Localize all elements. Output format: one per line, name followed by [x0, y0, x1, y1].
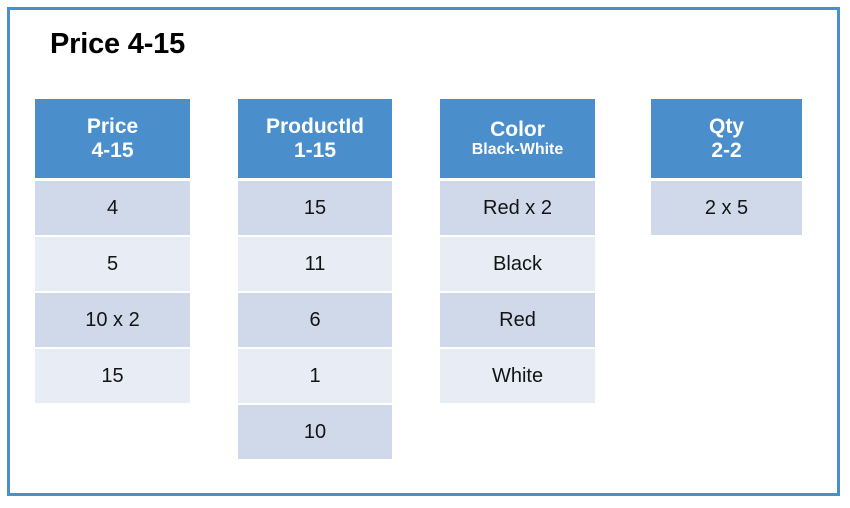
column-header-price: Price 4-15: [35, 99, 190, 178]
table-cell: 5: [35, 237, 190, 291]
column-header-color: Color Black-White: [440, 99, 595, 178]
column-header-title: Price: [87, 115, 138, 139]
column-header-title: Color: [490, 118, 545, 142]
column-cells-qty: 2 x 5: [651, 181, 802, 235]
table-cell: Red x 2: [440, 181, 595, 235]
table-cell: White: [440, 349, 595, 403]
table-cell: 10: [238, 405, 392, 459]
column-cells-productid: 15 11 6 1 10: [238, 181, 392, 459]
column-header-subtitle: 4-15: [91, 139, 133, 163]
column-header-subtitle: 1-15: [294, 139, 336, 163]
table-cell: 11: [238, 237, 392, 291]
table-cell: 2 x 5: [651, 181, 802, 235]
column-color: Color Black-White Red x 2 Black Red Whit…: [440, 99, 595, 405]
column-header-subtitle: 2-2: [711, 139, 741, 163]
table-cell: 15: [238, 181, 392, 235]
table-cell: 6: [238, 293, 392, 347]
table-cell: Black: [440, 237, 595, 291]
column-header-subtitle: Black-White: [472, 141, 564, 159]
slide-canvas: Price 4-15 Price 4-15 4 5 10 x 2 15 Prod…: [0, 0, 850, 508]
table-cell: 15: [35, 349, 190, 403]
column-header-title: ProductId: [266, 115, 364, 139]
page-title: Price 4-15: [50, 28, 185, 61]
column-header-title: Qty: [709, 115, 744, 139]
table-cell: 1: [238, 349, 392, 403]
column-header-qty: Qty 2-2: [651, 99, 802, 178]
table-cell: 10 x 2: [35, 293, 190, 347]
column-qty: Qty 2-2 2 x 5: [651, 99, 802, 237]
column-header-productid: ProductId 1-15: [238, 99, 392, 178]
column-price: Price 4-15 4 5 10 x 2 15: [35, 99, 190, 405]
column-cells-color: Red x 2 Black Red White: [440, 181, 595, 403]
table-cell: 4: [35, 181, 190, 235]
column-productid: ProductId 1-15 15 11 6 1 10: [238, 99, 392, 461]
table-cell: Red: [440, 293, 595, 347]
column-cells-price: 4 5 10 x 2 15: [35, 181, 190, 403]
